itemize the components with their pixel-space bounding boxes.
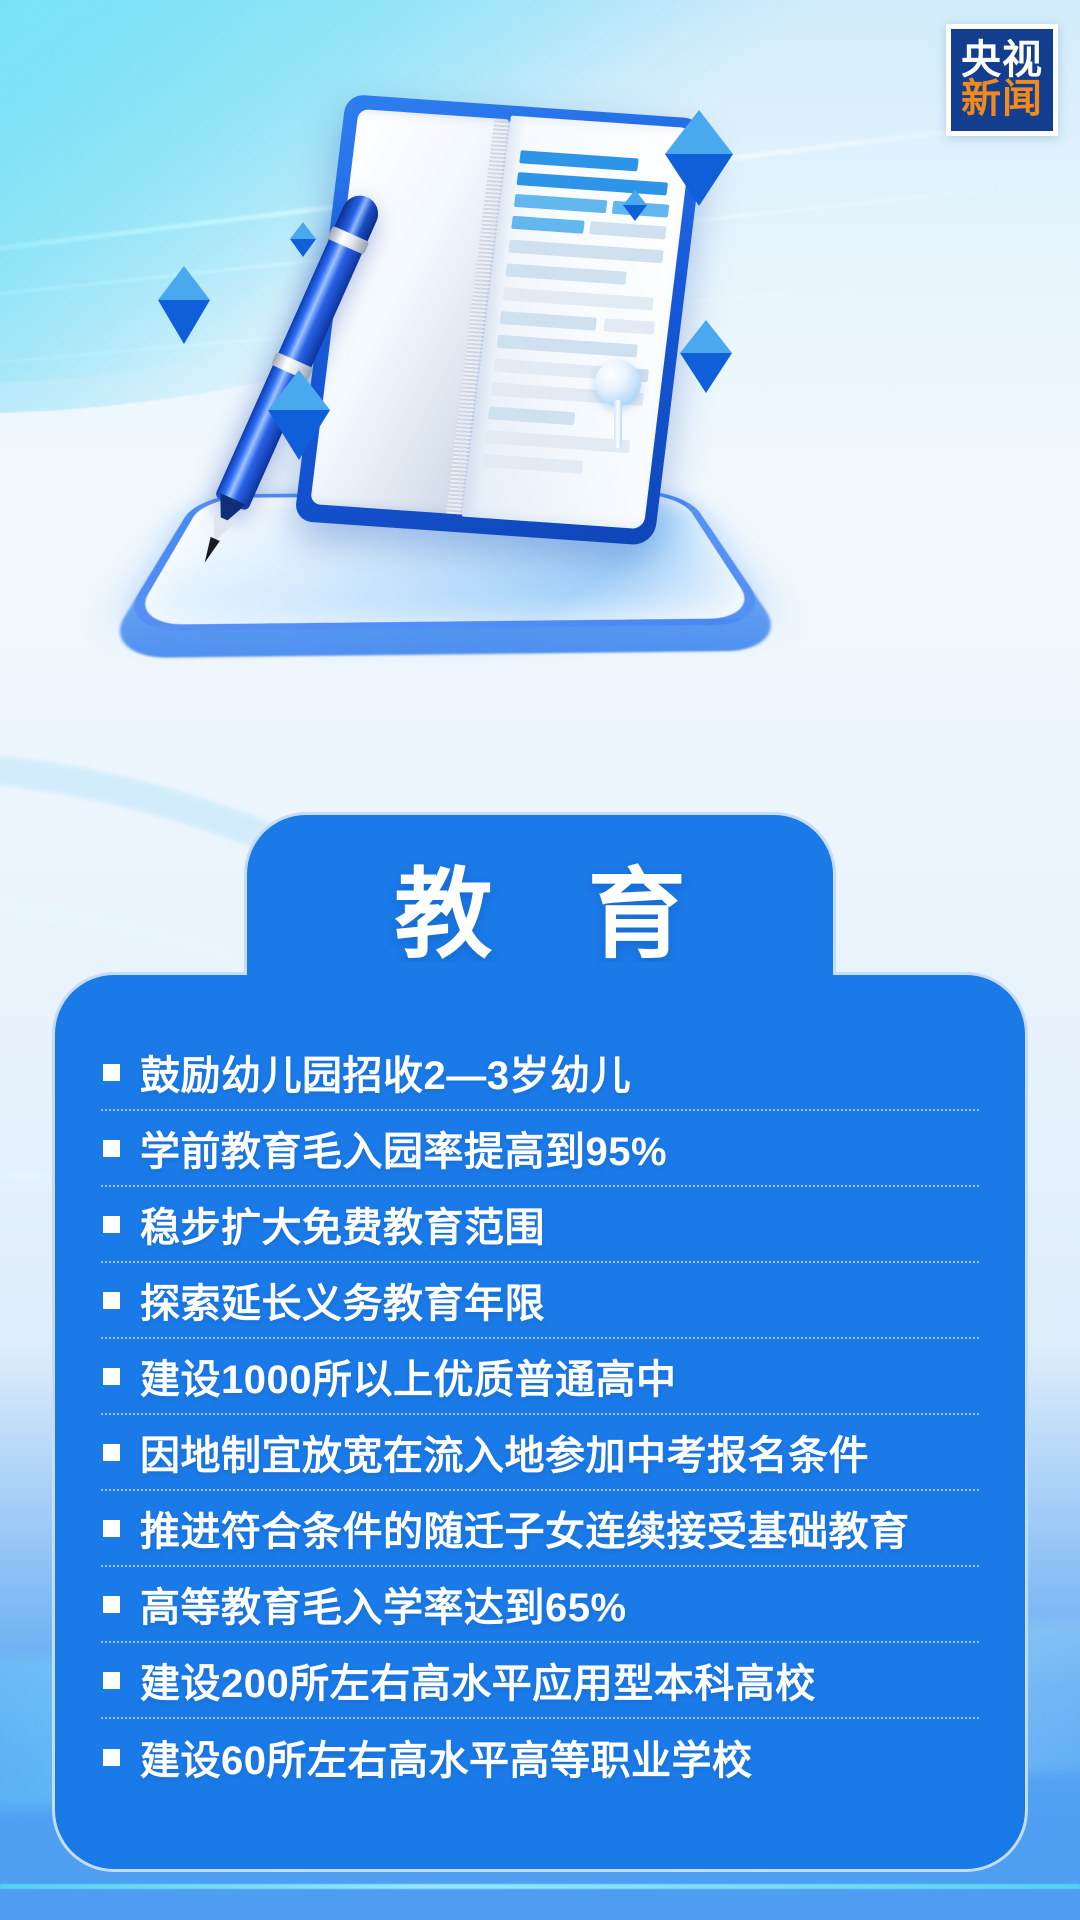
bullet-square-icon <box>103 1216 120 1233</box>
page-title: 教 育 <box>360 865 719 963</box>
card-body: 鼓励幼儿园招收2—3岁幼儿 学前教育毛入园率提高到95% 稳步扩大免费教育范围 … <box>52 972 1028 1872</box>
bullet-square-icon <box>103 1672 120 1689</box>
list-item: 高等教育毛入学率达到65% <box>101 1567 979 1643</box>
book-text-line <box>589 221 667 239</box>
logo-text-yangshi: 央视 <box>961 41 1043 80</box>
poster-root: 央视 新闻 <box>0 0 1080 1920</box>
list-item-label: 稳步扩大免费教育范围 <box>140 1195 545 1253</box>
list-item-label: 建设1000所以上优质普通高中 <box>140 1347 676 1405</box>
card-notch-filler <box>247 962 833 998</box>
bullet-square-icon <box>103 1292 120 1309</box>
book-text-line <box>500 311 597 331</box>
list-item: 学前教育毛入园率提高到95% <box>101 1111 979 1187</box>
list-item: 建设60所左右高水平高等职业学校 <box>101 1719 979 1795</box>
list-item: 建设1000所以上优质普通高中 <box>101 1339 979 1415</box>
list-item: 建设200所左右高水平应用型本科高校 <box>101 1643 979 1719</box>
bullet-square-icon <box>103 1520 120 1537</box>
book-text-line <box>514 194 607 213</box>
list-item: 探索延长义务教育年限 <box>101 1263 979 1339</box>
bullet-square-icon <box>103 1140 120 1157</box>
bullet-square-icon <box>103 1749 120 1766</box>
list-item: 因地制宜放宽在流入地参加中考报名条件 <box>101 1415 979 1491</box>
logo-text-xinwen: 新闻 <box>961 80 1043 119</box>
book-text-line <box>482 454 583 474</box>
education-card: 教 育 鼓励幼儿园招收2—3岁幼儿 学前教育毛入园率提高到95% 稳步扩大免费教… <box>0 812 1080 1920</box>
list-item: 稳步扩大免费教育范围 <box>101 1187 979 1263</box>
book-text-line <box>508 240 663 264</box>
book-text-line <box>519 150 638 171</box>
list-item-label: 建设200所左右高水平应用型本科高校 <box>140 1651 816 1709</box>
list-item: 推进符合条件的随迁子女连续接受基础教育 <box>101 1491 979 1567</box>
list-item-label: 建设60所左右高水平高等职业学校 <box>140 1728 753 1786</box>
pen-tip <box>200 537 220 565</box>
logo-inner: 央视 新闻 <box>951 29 1053 131</box>
bullet-square-icon <box>103 1064 120 1081</box>
list-item-label: 高等教育毛入学率达到65% <box>140 1575 627 1633</box>
glass-sphere-stem <box>614 400 622 448</box>
list-item-label: 推进符合条件的随迁子女连续接受基础教育 <box>140 1499 910 1557</box>
book-text-line <box>511 216 585 234</box>
bullet-square-icon <box>103 1368 120 1385</box>
cctv-news-logo: 央视 新闻 <box>946 24 1058 136</box>
policy-list: 鼓励幼儿园招收2—3岁幼儿 学前教育毛入园率提高到95% 稳步扩大免费教育范围 … <box>101 1035 979 1795</box>
list-item-label: 鼓励幼儿园招收2—3岁幼儿 <box>140 1043 631 1101</box>
list-item: 鼓励幼儿园招收2—3岁幼儿 <box>101 1035 979 1111</box>
list-item-label: 学前教育毛入园率提高到95% <box>140 1119 667 1177</box>
book-text-line <box>505 263 626 284</box>
book-text-line <box>494 359 603 379</box>
book-text-line <box>502 287 653 310</box>
book-text-line <box>603 318 655 334</box>
open-book-icon <box>294 94 706 546</box>
bullet-square-icon <box>103 1444 120 1461</box>
list-item-label: 探索延长义务教育年限 <box>140 1271 545 1329</box>
education-hero-illustration <box>120 70 820 670</box>
book-text-line <box>488 406 575 425</box>
book-text-line <box>497 335 638 358</box>
bullet-square-icon <box>103 1596 120 1613</box>
list-item-label: 因地制宜放宽在流入地参加中考报名条件 <box>140 1423 869 1481</box>
book-text-line <box>485 430 630 453</box>
